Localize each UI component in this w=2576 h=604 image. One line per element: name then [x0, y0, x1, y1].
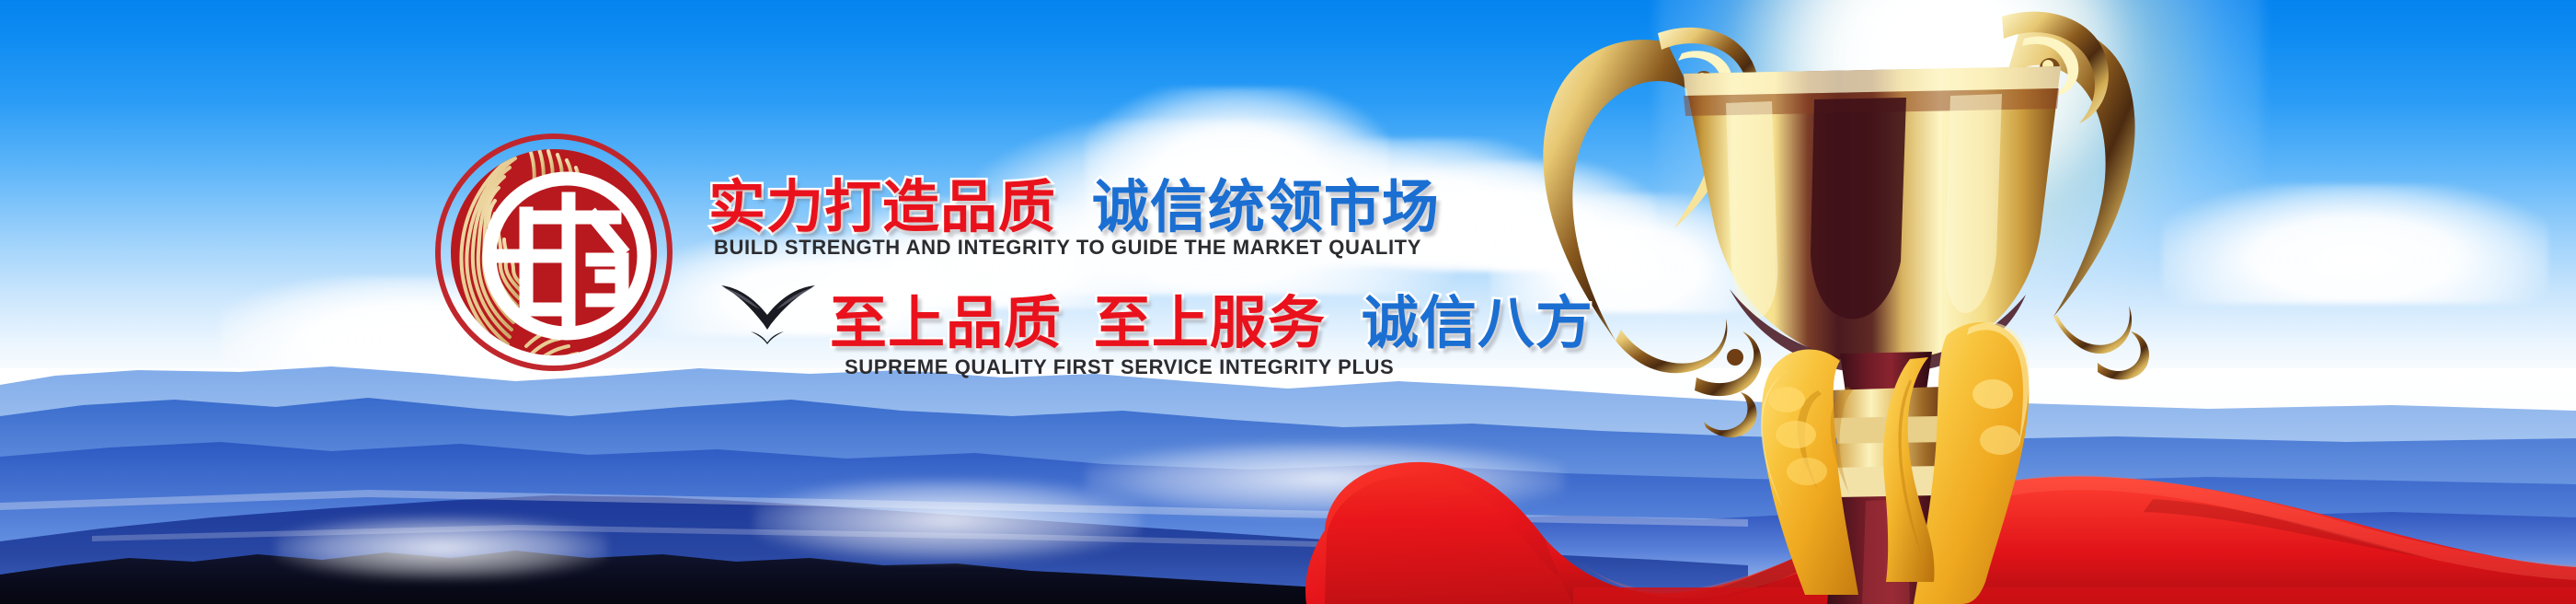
seagull-silhouette-icon — [718, 267, 821, 346]
headline-line1-english: BUILD STRENGTH AND INTEGRITY TO GUIDE TH… — [714, 236, 1421, 260]
headline-line2-red-2: 至上服务 — [1094, 276, 1326, 359]
promotional-banner: 实力打造品质 诚信统领市场 BUILD STRENGTH AND INTEGRI… — [0, 0, 2576, 604]
integrity-seal-logo — [431, 129, 677, 376]
headline-line-1: 实力打造品质 诚信统领市场 — [708, 160, 1440, 243]
mountain-mist — [276, 516, 607, 580]
headline-line2-red-1: 至上品质 — [830, 276, 1062, 359]
headline-line2-english: SUPREME QUALITY FIRST SERVICE INTEGRITY … — [845, 355, 1394, 379]
headline-text-block: 实力打造品质 诚信统领市场 BUILD STRENGTH AND INTEGRI… — [708, 147, 1647, 414]
headline-line1-blue: 诚信统领市场 — [1092, 160, 1440, 243]
headline-line-2: 至上品质 至上服务 诚信八方 — [830, 276, 1593, 359]
headline-line2-blue: 诚信八方 — [1362, 276, 1593, 359]
mountain-mist — [754, 479, 1141, 562]
headline-line1-red: 实力打造品质 — [708, 160, 1056, 243]
